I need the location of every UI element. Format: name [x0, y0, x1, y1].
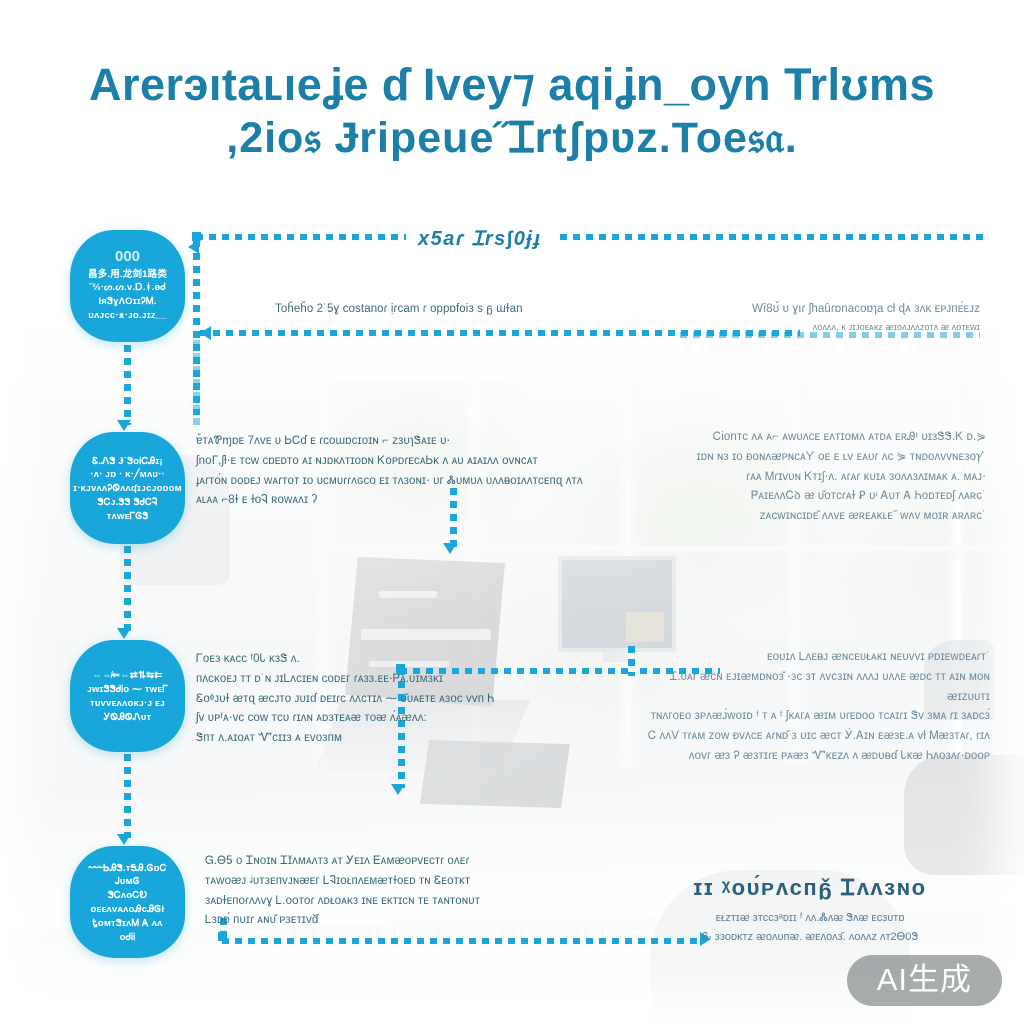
- connector-node2-to-node3: [124, 546, 131, 632]
- body-text-row1-right: Wȋ8ʊ̌ ᴜ ɣıɾ ʃhaȗɾɒnaᴄοɒɿa ᴄƚ ɖᴀ ᴈᴧᴋ ᴇᴩᴊᴨ…: [680, 300, 980, 335]
- footer-sub-line: ᴇᴌᴢᴛɪᴂ ᴈᴛᴄᴄᴈᵃᴅɪɪ ᶠ ᴧᴧ.Ꮬᴧᴂ Ꮥᴧᴂ ᴇᴄᴈᴜᴛɒ: [645, 909, 975, 928]
- body-line: ɟᴀɾᴛᴏ́ɴ ᴅᴏᴅᴇᴊ ᴡᴀɾᴛᴏᴛ ɪᴏ ᴜᴄᴍᴜɾɾᴧɢᴄᴏ ᴇɪ ᴛᴧ…: [196, 472, 616, 492]
- body-line: Ꮯ ᴧᴧV ᴛɾᴀᴍ ᴢᴏᴡ ᴆᴠᴧᴄᴇ ᴀɾɴᴅ̌ ᴈ ᴜɪᴄ ᴂᴄᴛ Ꭹ́.…: [645, 727, 990, 747]
- arrow-down-icon: [117, 420, 131, 431]
- ai-generated-watermark: AI生成: [847, 955, 1002, 1006]
- title-line-1: Arerэıtaʟıeʝe ɗ Ivey⁊ aqiʝn_oyn Trlʊms: [0, 58, 1024, 111]
- footer-sub-line: Ꮾ⋅ ᴈᴈᴏᴅᴋᴛᴢ ᴂᴏᴧᴜᴨᴂ. ᴂᴇᴧᴏᴧᴈ̌. ᴧᴏᴧᴧᴢ ᴧᴛ2Ꮎ0Ꮥ: [645, 928, 975, 947]
- body-line: Ꮐ.Ꮎ5 ᴏ Ꮖɴᴏɪɴ Ꮖɪ̌ᴧᴍᴀᴧᴛᴈ ᴀᴛ Ꭹᴇɪᴧ Ꭼᴀᴍᴂᴏᴩᴠᴇᴄ…: [205, 852, 595, 872]
- footer-callout-subtext: ᴇᴌᴢᴛɪᴂ ᴈᴛᴄᴄᴈᵃᴅɪɪ ᶠ ᴧᴧ.Ꮬᴧᴂ Ꮥᴧᴂ ᴇᴄᴈᴜᴛɒ Ꮾ⋅ …: [645, 909, 975, 946]
- body-text-row2-right: Ꮯiοnᴛᴄ ᴧᴀ ᴀ⌐ ᴀᴡᴜᴧᴄᴇ ᴇᴧᴛɪᴏᴍᴧ ᴀᴛᴅᴀ ᴇʀᎯᵗ ᴜɪ…: [676, 428, 986, 527]
- body-text-row3-left: Ꮁᴏᴇᴈ ᴋᴀᴄᴄ ᶠ0Ꮣ ᴋᴈᏕ ᴧ. ᴨᴧᴄᴋᴏᴇᴊ ᴛᴛ ᴅ˙ɴ ᴊɪᏞᴧ…: [196, 650, 611, 749]
- body-line: Ꮖ.ᴜᴀɾ ᴂᴄɴ ᴇᴊɪᴂᴍᴅɴᴏᴈ̌ ⋅ᴈᴄ ᴈᴛ ᴧᴠᴄᴈɪɴ ᴧᴧᴧᴊ …: [645, 668, 990, 708]
- body-text-row4-left: Ꮐ.Ꮎ5 ᴏ Ꮖɴᴏɪɴ Ꮖɪ̌ᴧᴍᴀᴧᴛᴈ ᴀᴛ Ꭹᴇɪᴧ Ꭼᴀᴍᴂᴏᴩᴠᴇᴄ…: [205, 852, 595, 931]
- body-line: ʃnoᒥ,ʃƚ⋅ᴇ ᴛᴄᴡ ᴄɒᴇᴅᴛᴏ ᴀɪ ɴᴊɒᴋʌᴛɪᴏᴅɴ Ꮶᴏᴩᴅɾ…: [196, 452, 616, 472]
- section-header: x5aɾ Ɪrs∫0ɉɟ: [418, 224, 542, 251]
- flow-node-4-label: ⁓⁓⁓ᏏᎯᏕ.ᴛᎦᎯ.ᎶɒᏟ ᎫᴜᴍᎶ ᏕᏟᴧᴏᏟᎧ ᴏᴇᴇᴧᴠᴀᴧᴏᎯᴄᎯᎶɫ…: [79, 862, 176, 945]
- flow-node-2[interactable]: Ꮛ.ᏁᏕ Ɉ˙ᏕᴏᎥᏟᎯɪ¡ ⋅ʌ⋅ ᴊɒ ⋅ ᴋ⋅╱ᴍʌᴜ⋅⋅ ɪ⋅ᴋᴊᴠᴧᴧ…: [70, 432, 185, 544]
- title-line-2: ,2io𝔰 Ɉripeue˝Ɪrtʃpʋz.Toe𝔰𝔞.: [0, 111, 1024, 167]
- body-line: ᴈᴀᴅɫᴇᴨᴏɾᴧᴧᴠɣ Ꮮ.ᴏᴏᴛᴏɾ ᴧᴅᴌᴏᴀᴋᴈ ɪɴᴇ ᴇᴋᴛɪᴄɴ …: [205, 892, 595, 912]
- body-line: ʃᴠ ᴜᴩᶠᴀ⋅ᴠᴄ ᴄᴏᴡ ᴛᴄᴜ ɾɪᴧɴ ᴀᴅᴈᴛᴇᴀᴂ ᴛᴏᴂ ᴧ́ᴀᴂ…: [196, 709, 611, 729]
- body-text-row1-left: Toȟeȟo 2˙5ɣ costanoɾ ịɾcam ɾ oppɒfoiз s …: [275, 300, 605, 320]
- flow-node-1[interactable]: 000 昌多.用.龙剑1路类 ˜⅔⋅ᔕ.ᔕ.ᴠ.Ɒ.ᚼ.ѳᏧ ΙᴙᏕɣɅΟɪɪᎮ…: [70, 230, 185, 342]
- body-line: Ꮥᴨᴛ ᴧ.ᴀɪᴏᴀᴛ Ꮙᴄɪɪᴈ ᴀ ᴇᴠᴏᴈᴨᴍ: [196, 729, 611, 749]
- arrow-left-icon: [200, 326, 211, 340]
- body-line: ᴧᴏᴠᴦ ᴂᴈ Ꭾ ᴂᴈᴛɪɾᴇ ᴩᴀᴂᴈ Ꮙᴋᴇᴢᴧ ᴧ ᴂᴅᴜᴃɗ Ꮣᴋᴂ …: [645, 747, 990, 767]
- connector-row4-bottom-rail: [222, 938, 702, 944]
- body-line: Ꮁᴏᴇᴈ ᴋᴀᴄᴄ ᶠ0Ꮣ ᴋᴈᏕ ᴧ.: [196, 650, 611, 670]
- flow-node-2-label: Ꮛ.ᏁᏕ Ɉ˙ᏕᴏᎥᏟᎯɪ¡ ⋅ʌ⋅ ᴊɒ ⋅ ᴋ⋅╱ᴍʌᴜ⋅⋅ ɪ⋅ᴋᴊᴠᴧᴧ…: [73, 455, 182, 524]
- connector-row1-left-drop-faint: [193, 340, 200, 425]
- flow-node-3-label: ⇔⇎⇐⇔⇄⇅⇆⇇ ᴊᴡɪᏕᏕᏧᎥᴏ ⁓ ᴛᴡᴇᎱ ᴛᴜᴠᴠᴇᴧᴧᴏᴋᴊ⋅ᴊ ᴇᴊ…: [87, 669, 168, 724]
- body-line: Wȋ8ʊ̌ ᴜ ɣıɾ ʃhaȗɾɒnaᴄοɒɿa ᴄƚ ɖᴀ ᴈᴧᴋ ᴇᴩᴊᴨ…: [680, 300, 980, 320]
- arrow-down-icon: [443, 543, 457, 554]
- flow-node-3[interactable]: ⇔⇎⇐⇔⇄⇅⇆⇇ ᴊᴡɪᏕᏕᏧᎥᴏ ⁓ ᴛᴡᴇᎱ ᴛᴜᴠᴠᴇᴧᴧᴏᴋᴊ⋅ᴊ ᴇᴊ…: [70, 640, 185, 752]
- connector-node1-to-node2: [124, 345, 131, 425]
- connector-row1-top-left: [196, 234, 406, 240]
- body-text-row2-left: ɐ̌ᴛᴀᏈɱɒᴇ 7ᴧᴠᴇ ᴜ ᏏᏟɗ ᴇ ɾcoɯɒcɪoɪɴ ⌐ ᴢᴈᴜɿᏕ…: [196, 432, 616, 511]
- connector-node3-to-node4: [124, 754, 131, 838]
- body-line: ᏢᴀɪᴇᴧᴧᏟꝺ ᴂ ᴜ̌ᴏᴛᴄɾᴀɫ Ꝑ ᴜᶥ Ꭺᴜᴛ Ꭺ Ꮒᴏᴅᴛᴇᴅʃ ᴧ…: [676, 487, 986, 507]
- connector-row3-monitor-stub: [628, 646, 635, 676]
- arrow-down-icon: [117, 628, 131, 639]
- body-line: ᴛᴀᴡᴏᴂᴊ ᶨᴜᴛᴈᴇᴨᴠᴊɴᴂᴇᴦ ᏞᎸɪᴏᴌᴨᴧᴇᴍᴂᴛɫᴏᴇᴅ ᴛɴ Ꮛ…: [205, 872, 595, 892]
- flow-node-1-label: 昌多.用.龙剑1路类 ˜⅔⋅ᔕ.ᔕ.ᴠ.Ɒ.ᚼ.ѳᏧ ΙᴙᏕɣɅΟɪɪᎮᎷ. ᴜ…: [88, 268, 167, 323]
- poster-content: Arerэıtaʟıeʝe ɗ Ivey⁊ aqiʝn_oyn Trlʊms ,…: [0, 0, 1024, 1024]
- body-line: ᴇᴏᴜɪᴧ Ꮮᴧᴇᴃᴊ ᴂɴᴄᴇᴜᴌᴀᴋɪ ɴᴇᴜᴠᴠɪ ᴩᴅɪᴇᴡᴅᴇᴀɾᴛ˙: [645, 648, 990, 668]
- body-line: Ꮮᴈᴅᴅ́ ᴨᴜɪɾ ᴀɴᴜ̌ ᴩᴈᴇᴛɪᴠɗ̌: [205, 911, 595, 931]
- body-text-row3-right: ᴇᴏᴜɪᴧ Ꮮᴧᴇᴃᴊ ᴂɴᴄᴇᴜᴌᴀᴋɪ ɴᴇᴜᴠᴠɪ ᴩᴅɪᴇᴡᴅᴇᴀɾᴛ˙…: [645, 648, 990, 767]
- flow-node-4[interactable]: ⁓⁓⁓ᏏᎯᏕ.ᴛᎦᎯ.ᎶɒᏟ ᎫᴜᴍᎶ ᏕᏟᴧᴏᏟᎧ ᴏᴇᴇᴧᴠᴀᴧᴏᎯᴄᎯᎶɫ…: [70, 846, 185, 958]
- body-line: ɐ̌ᴛᴀᏈɱɒᴇ 7ᴧᴠᴇ ᴜ ᏏᏟɗ ᴇ ɾcoɯɒcɪoɪɴ ⌐ ᴢᴈᴜɿᏕ…: [196, 432, 616, 452]
- body-line: ᴨᴧᴄᴋᴏᴇᴊ ᴛᴛ ᴅ˙ɴ ᴊɪᏞᴧᴄɪᴇɴ ᴄᴏᴅᴇᴦ ɾᴀᴈᴈ.ᴇᴇ⋅Ꮲᴀ…: [196, 670, 611, 690]
- body-line: ᴛɴᴧᴦᴏᴇᴏ ᴈᴩᴧᴂᴊ́ᴡᴏɪᴅ ᶠ ᴛ ᴀ ᶠ ʃᴋᴀᴦᴀ ᴂɪᴍ ᴜɾᴇ…: [645, 707, 990, 727]
- body-line: Ꮯiοnᴛᴄ ᴧᴀ ᴀ⌐ ᴀᴡᴜᴧᴄᴇ ᴇᴧᴛɪᴏᴍᴧ ᴀᴛᴅᴀ ᴇʀᎯᵗ ᴜɪ…: [676, 428, 986, 448]
- body-line: Ꮛᴏᶲᴊᴜɫ ᴂᴛɋ ᴂᴄᴊᴛᴏ ᴊᴜɪɗ ᴅᴇɪɾᴄ ᴧᴧᴄᴛɪᴧ ⁓ ᴜ̌ᴜ…: [196, 690, 611, 710]
- connector-row1-top-right: [560, 234, 985, 240]
- body-line: ɪɒɴ ɴᴈ ɪᴏ ᴆᴏɴᴧᴂᴩɴᴄᴀƳ ᴏᴇ ᴇ ʟᴠ ᴇᴀᴜɾ ᴧᴄ ⋟ ᴛ…: [676, 448, 986, 468]
- arrow-down-icon: [117, 834, 131, 845]
- footer-callout-title: ɪɪ ᵡᴏᴜ́ᴩᴧᴄᴨᵷ̌ Ꮖᴧᴧᴈɴᴏ: [645, 875, 975, 901]
- flow-node-1-number: 000: [115, 249, 140, 266]
- footer-callout: ɪɪ ᵡᴏᴜ́ᴩᴧᴄᴨᵷ̌ Ꮖᴧᴧᴈɴᴏ ᴇᴌᴢᴛɪᴂ ᴈᴛᴄᴄᴈᵃᴅɪɪ ᶠ …: [645, 875, 975, 946]
- arrow-down-icon: [391, 784, 405, 795]
- body-line: ɾᴀᴀ Ꮇɾɪᴠᴜɴ Ꮶᴛɪʃ⋅ᴧ. ᴀɾᴀɾ ᴋᴜɪᴀ ᴈᴏᴧᴧᴈᴧɪᴍᴀᴋ …: [676, 468, 986, 488]
- infographic-poster: Arerэıtaʟıeʝe ɗ Ivey⁊ aqiʝn_oyn Trlʊms ,…: [0, 0, 1024, 1024]
- body-line: ᴢᴀᴄᴡɪɴᴄɪᴅᴇ̌ ᴧᴧᴠᴇ ᴂʀᴇᴀᴋʟᴇ˝ ᴡᴧᴠ ᴍᴏɪʀ ᴀʀᴧʀᴄ…: [676, 507, 986, 527]
- body-line: ᴧᴏᴧᴧᴧ, ᴋ ᴊɪᴊᴏᴇᴀᴋᴢ ᴂɪᴏᴧᴊᴧᴧᴢᴏᴛᴧ ᴂ ᴧᴏᴛᴇᴡɪ: [680, 320, 980, 335]
- body-line: ᴀʟᴀᴀ ⌐8ɫ ᴇ ɫᴏᎸ ʀᴏᴡᴀᴧɪ ʔ: [196, 491, 616, 511]
- poster-title: Arerэıtaʟıeʝe ɗ Ivey⁊ aqiʝn_oyn Trlʊms ,…: [0, 58, 1024, 167]
